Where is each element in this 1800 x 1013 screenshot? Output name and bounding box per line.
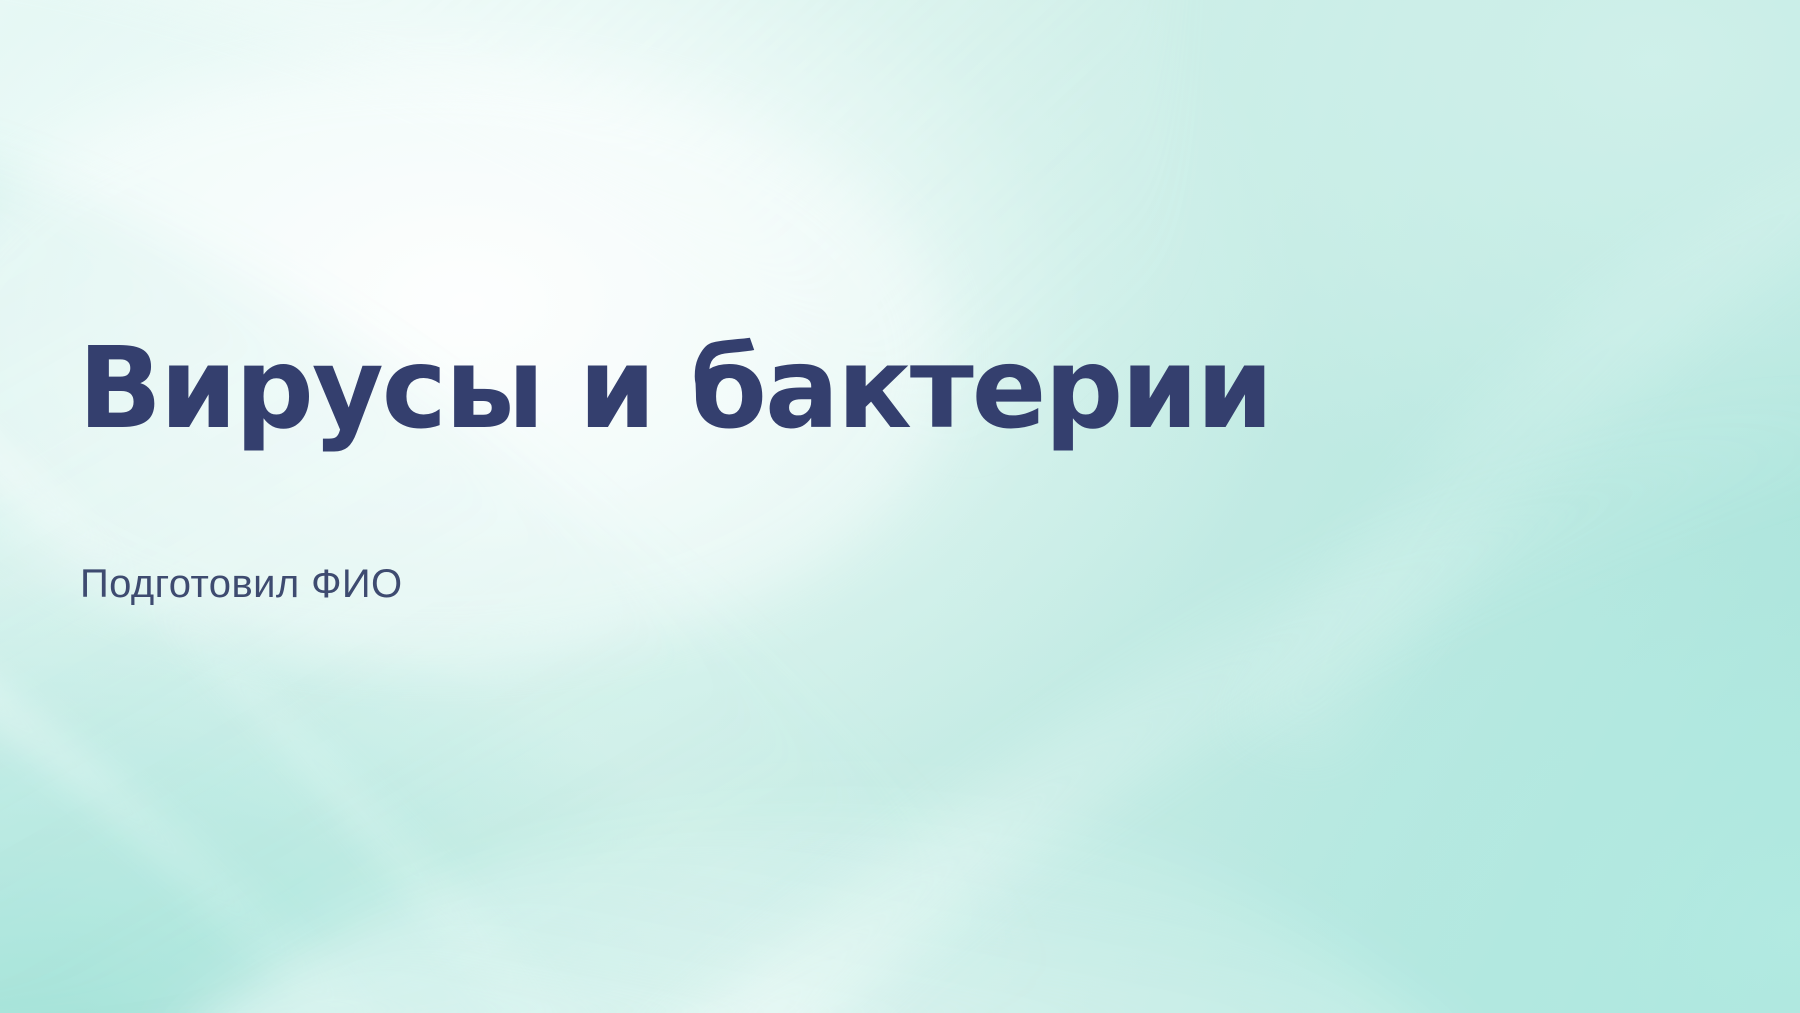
page-title: Вирусы и бактерии: [78, 330, 1260, 449]
slide-subtitle-author: Подготовил ФИО: [80, 560, 403, 608]
slide-text-content: Вирусы и бактерии Подготовил ФИО: [78, 0, 1398, 1013]
title-slide: Вирусы и бактерии Подготовил ФИО: [0, 0, 1800, 1013]
